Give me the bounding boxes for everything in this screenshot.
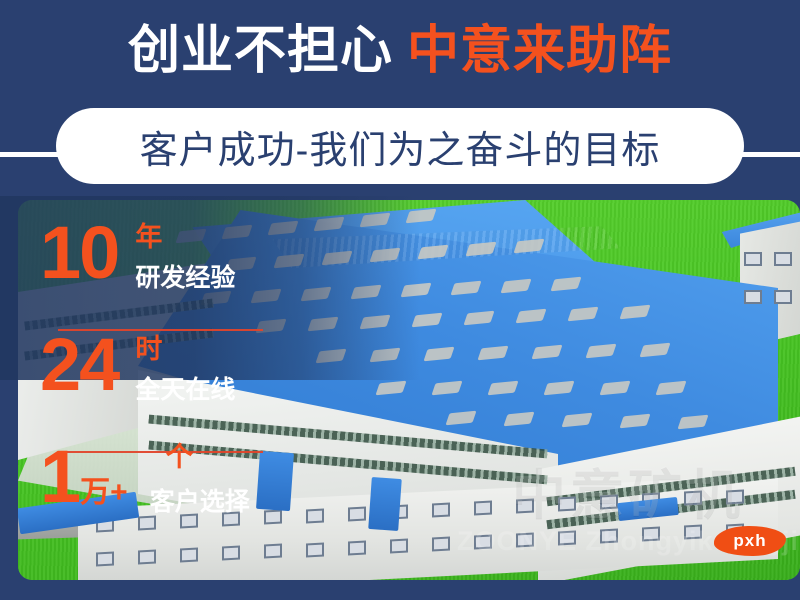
stat-unit: 时: [135, 334, 235, 365]
building-window: [774, 252, 792, 266]
headline-accent: 中意来助阵: [407, 22, 672, 80]
promo-banner: 中意矿机 ZOONYE Zhongyikuangji pxh 10 年 研发经验…: [0, 0, 800, 600]
stat-label: 客户选择: [150, 487, 250, 517]
stat-number: 1: [40, 442, 79, 512]
stat-item: 10 年 研发经验: [18, 218, 318, 330]
badge-label: pxh: [733, 531, 766, 551]
building-window: [744, 290, 762, 304]
stat-unit: 个: [166, 442, 250, 473]
subtitle-text: 客户成功-我们为之奋斗的目标: [140, 119, 661, 174]
stat-item: 24 时 全天在线: [18, 330, 318, 442]
stat-text: 个 客户选择: [150, 442, 250, 517]
stat-number: 10: [40, 218, 118, 288]
stat-number-wrap: 10: [40, 218, 119, 288]
stat-unit: 年: [135, 222, 235, 253]
building-window: [432, 502, 450, 517]
stats-panel: 10 年 研发经验 24 时 全天在线 1 万+: [18, 200, 318, 580]
building-window: [432, 536, 450, 551]
stat-number-suffix: 万+: [80, 479, 128, 508]
stat-text: 时 全天在线: [135, 330, 235, 405]
pxh-badge: pxh: [714, 526, 786, 556]
building-window: [516, 533, 534, 548]
stat-item: 1 万+ 个 客户选择: [18, 442, 318, 554]
subtitle-pill: 客户成功-我们为之奋斗的目标: [56, 108, 744, 184]
stat-label: 研发经验: [135, 263, 235, 293]
headline: 创业不担心中意来助阵: [0, 22, 800, 80]
building-window: [600, 495, 618, 510]
building-window: [474, 500, 492, 515]
building-window: [726, 489, 744, 504]
building-window: [684, 491, 702, 506]
building-window: [516, 499, 534, 514]
building-window: [474, 534, 492, 549]
building-window: [390, 538, 408, 553]
building-window: [348, 506, 366, 521]
stat-text: 年 研发经验: [135, 218, 235, 293]
building-window: [558, 497, 576, 512]
headline-primary: 创业不担心: [128, 22, 393, 80]
building-window: [684, 525, 702, 540]
building-window: [348, 540, 366, 555]
stat-label: 全天在线: [135, 375, 235, 405]
building-window: [744, 252, 762, 266]
building-window: [600, 529, 618, 544]
stat-number-wrap: 1 万+: [40, 442, 128, 512]
building-window: [774, 290, 792, 304]
building-window: [642, 527, 660, 542]
building-window: [558, 531, 576, 546]
entrance-canopy: [368, 477, 402, 531]
stat-number: 24: [40, 330, 118, 400]
stat-number-wrap: 24: [40, 330, 119, 400]
